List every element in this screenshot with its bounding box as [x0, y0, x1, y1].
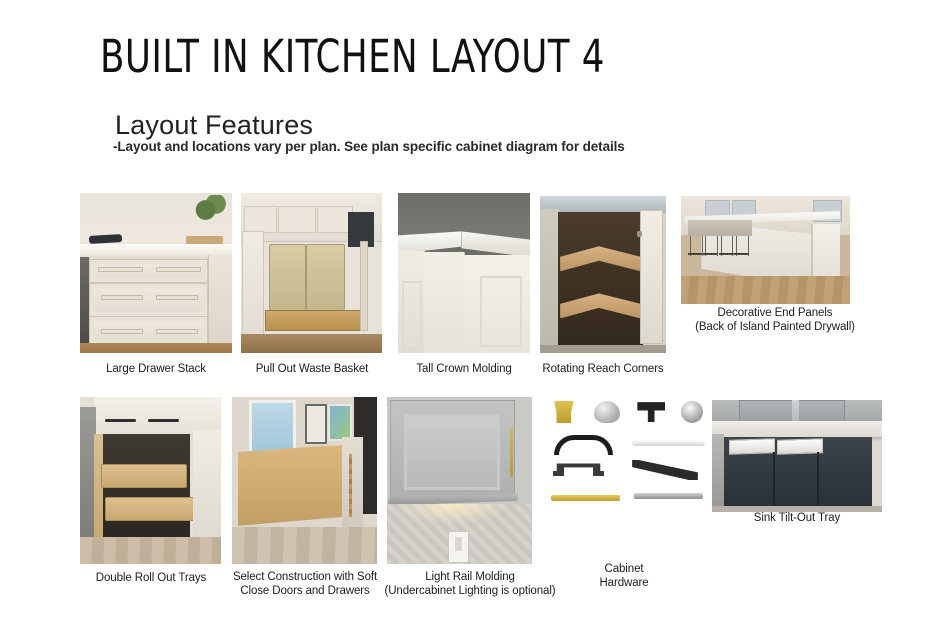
caption-decorative-end-panels: Decorative End Panels (Back of Island Pa…: [680, 307, 870, 334]
nickel-oval-knob-icon: [681, 401, 703, 423]
black-square-pull-icon: [553, 463, 605, 476]
caption-pull-out-waste-basket: Pull Out Waste Basket: [236, 363, 388, 377]
caption-large-drawer-stack: Large Drawer Stack: [80, 363, 232, 377]
black-arch-pull-icon: [554, 435, 612, 455]
gold-square-knob-icon: [551, 401, 577, 423]
photo-double-roll-out-trays: [80, 397, 221, 564]
caption-double-roll-out-trays: Double Roll Out Trays: [72, 572, 230, 586]
section-heading: Layout Features: [115, 110, 313, 141]
photo-pull-out-waste-basket: [241, 193, 382, 353]
section-subheading: -Layout and locations vary per plan. See…: [113, 139, 625, 154]
photo-sink-tilt-out-tray: [712, 400, 882, 512]
caption-select-construction: Select Construction with Soft Close Door…: [225, 571, 385, 598]
steel-bar-pull-icon: [634, 493, 703, 499]
caption-cabinet-hardware: Cabinet Hardware: [574, 563, 674, 590]
caption-tall-crown-molding: Tall Crown Molding: [398, 363, 530, 377]
caption-sink-tilt-out-tray: Sink Tilt-Out Tray: [712, 512, 882, 526]
photo-tall-crown-molding: [398, 193, 530, 353]
photo-large-drawer-stack: [80, 193, 232, 353]
gold-bar-pull-icon: [551, 495, 620, 501]
caption-rotating-reach-corners: Rotating Reach Corners: [527, 363, 679, 377]
photo-rotating-reach-corners: [540, 196, 666, 353]
caption-light-rail-molding: Light Rail Molding (Undercabinet Lightin…: [375, 571, 565, 598]
black-t-knob-icon: [637, 402, 665, 422]
page-title: BUILT IN KITCHEN LAYOUT 4: [100, 30, 605, 83]
photo-decorative-end-panels: [681, 196, 850, 304]
black-bracket-pull-icon: [632, 460, 698, 480]
photo-cabinet-hardware: [537, 395, 710, 513]
photo-select-construction: [232, 397, 377, 564]
photo-light-rail-molding: [387, 397, 532, 564]
white-bar-pull-icon: [632, 440, 705, 446]
chrome-round-knob-icon: [594, 401, 620, 423]
